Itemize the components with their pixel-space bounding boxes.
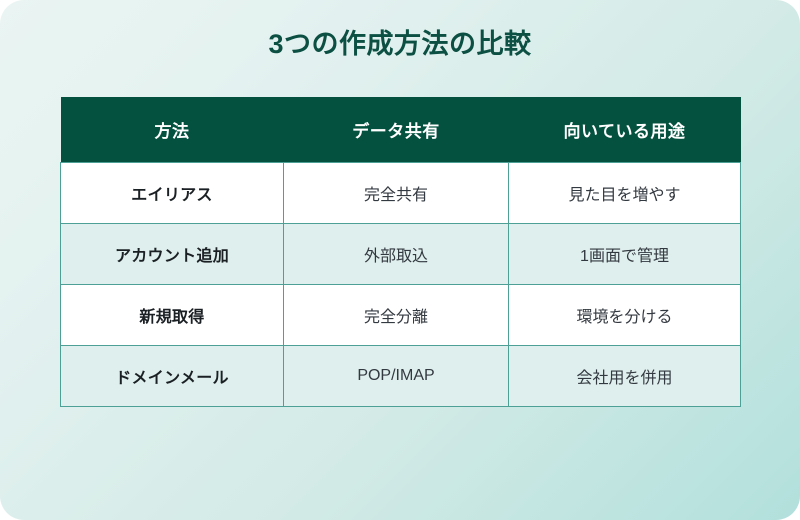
cell-usecase: 見た目を増やす [509,163,741,224]
slide-canvas: 3つの作成方法の比較 方法 データ共有 向いている用途 エイリアス 完全共有 見… [0,0,800,520]
table-row: 新規取得 完全分離 環境を分ける [61,285,741,346]
column-header-method: 方法 [61,97,284,163]
cell-sharing: 外部取込 [284,224,509,285]
cell-method: エイリアス [61,163,284,224]
table-header-row: 方法 データ共有 向いている用途 [61,97,741,163]
comparison-table: 方法 データ共有 向いている用途 エイリアス 完全共有 見た目を増やす アカウン… [60,97,741,407]
cell-usecase: 環境を分ける [509,285,741,346]
table-row: アカウント追加 外部取込 1画面で管理 [61,224,741,285]
cell-usecase: 1画面で管理 [509,224,741,285]
cell-sharing: 完全分離 [284,285,509,346]
column-header-sharing: データ共有 [284,97,509,163]
table-header: 方法 データ共有 向いている用途 [61,97,741,163]
page-title: 3つの作成方法の比較 [0,27,800,61]
cell-sharing: 完全共有 [284,163,509,224]
column-header-usecase: 向いている用途 [509,97,741,163]
cell-method: 新規取得 [61,285,284,346]
cell-method: アカウント追加 [61,224,284,285]
cell-sharing: POP/IMAP [284,346,509,407]
cell-method: ドメインメール [61,346,284,407]
table-row: ドメインメール POP/IMAP 会社用を併用 [61,346,741,407]
cell-usecase: 会社用を併用 [509,346,741,407]
table-row: エイリアス 完全共有 見た目を増やす [61,163,741,224]
table-body: エイリアス 完全共有 見た目を増やす アカウント追加 外部取込 1画面で管理 新… [61,163,741,407]
